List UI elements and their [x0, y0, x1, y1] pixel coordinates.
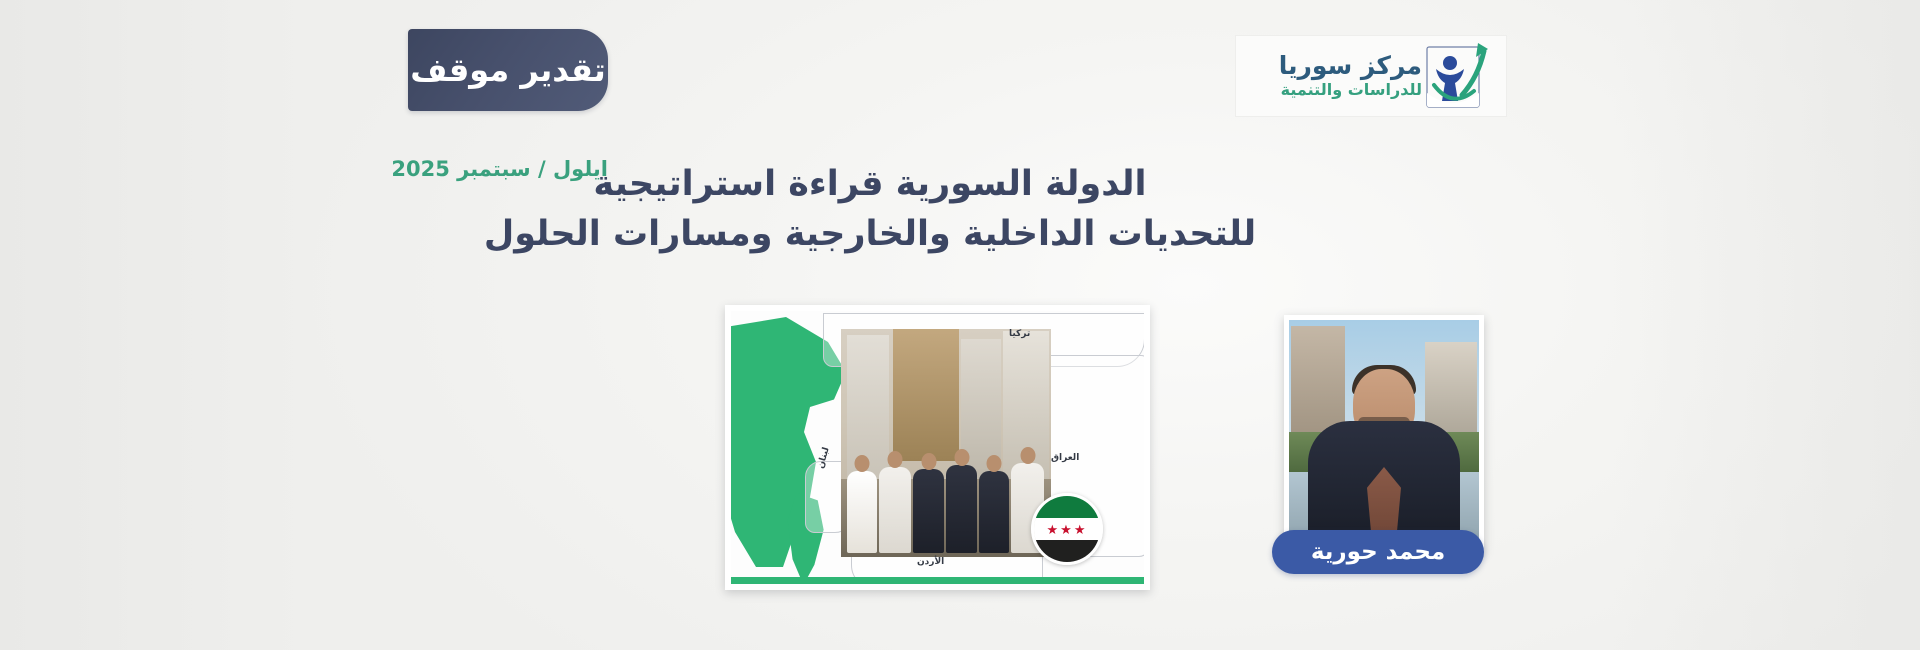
photo-person-2-head [888, 451, 903, 468]
author-name-label: محمد حورية [1311, 539, 1445, 565]
photo-person-6-head [1020, 447, 1035, 464]
photo-person-1 [847, 471, 877, 553]
map-label-turkey: تركيا [1009, 329, 1030, 339]
organization-logo-text: مركز سوريا للدراسات والتنمية [1236, 53, 1422, 98]
map-label-iraq: العراق [1051, 453, 1079, 463]
author-name-badge: محمد حورية [1272, 530, 1484, 574]
flag-stars: ★★★ [1034, 524, 1100, 537]
page-title-line-2: للتحديات الداخلية والخارجية ومسارات الحل… [480, 210, 1260, 260]
rising-figure-with-arrow-icon [1422, 39, 1500, 113]
organization-logo: مركز سوريا للدراسات والتنمية [1235, 35, 1507, 117]
photo-building-2 [893, 329, 959, 461]
photo-person-2 [879, 467, 911, 553]
publication-banner: تقدير موقف ايلول / سبتمبر 2025 مركز سوري… [0, 0, 1920, 650]
map-label-jordan: الأردن [917, 557, 944, 567]
author-block: محمد حورية [1278, 315, 1484, 574]
photo-person-3-head [921, 453, 936, 470]
page-title-line-1: الدولة السورية قراءة استراتيجية [480, 160, 1260, 210]
photo-person-4-head [954, 449, 969, 466]
delegation-photo [841, 329, 1051, 557]
photo-person-3 [913, 469, 944, 553]
category-badge: تقدير موقف [408, 29, 608, 111]
cover-footer-bar [731, 577, 1144, 584]
organization-tagline: للدراسات والتنمية [1246, 82, 1422, 99]
syrian-flag-icon: ★★★ [1031, 493, 1103, 565]
page-title: الدولة السورية قراءة استراتيجية للتحديات… [480, 160, 1260, 259]
category-badge-label: تقدير موقف [410, 54, 606, 86]
cover-image-inner: تركيا العراق الأردن لبنان ★★★ [731, 311, 1144, 584]
photo-person-4 [946, 465, 977, 553]
cover-image: تركيا العراق الأردن لبنان ★★★ [725, 305, 1150, 590]
photo-person-5 [979, 471, 1009, 553]
flag-stripe-green [1034, 496, 1100, 518]
avatar [1284, 315, 1484, 552]
flag-stripe-black [1034, 540, 1100, 562]
organization-name: مركز سوريا [1246, 53, 1422, 79]
photo-person-1-head [855, 455, 870, 472]
photo-person-5-head [987, 455, 1002, 472]
